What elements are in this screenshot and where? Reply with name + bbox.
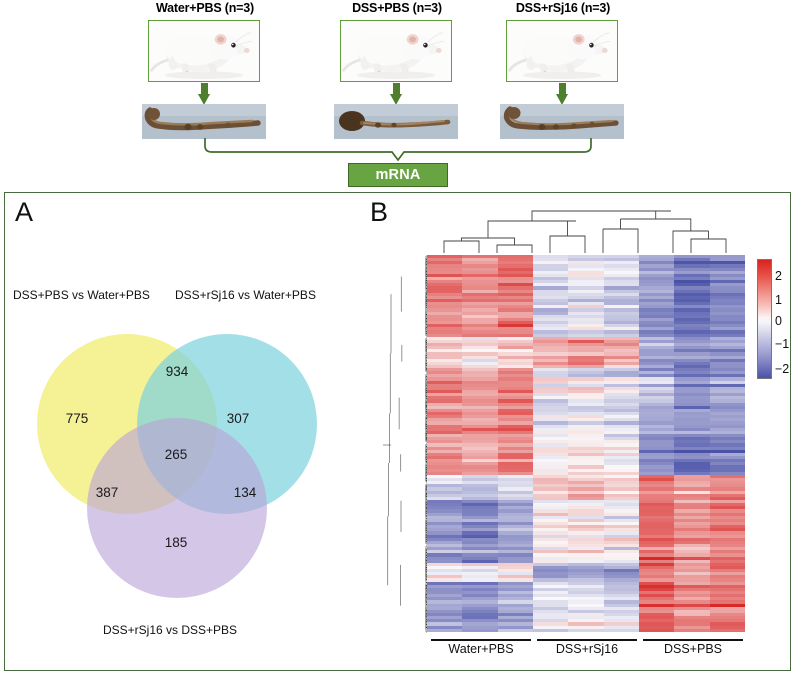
- heatmap-cell: [639, 629, 674, 632]
- venn-count-ac: 387: [84, 485, 130, 500]
- workflow-panel: Water+PBS (n=3): [0, 0, 795, 192]
- merge-bracket-icon: [0, 138, 795, 164]
- venn-circle-c: [87, 418, 267, 598]
- colon-illustration: [500, 104, 624, 139]
- group-title: DSS+PBS (n=3): [312, 0, 482, 16]
- heatmap-cell: [427, 629, 462, 632]
- rat-photo: [506, 20, 618, 82]
- heatmap-column: [427, 255, 462, 633]
- arrow-down-icon: [390, 83, 402, 105]
- venn-set-label-bottom: DSS+rSj16 vs DSS+PBS: [103, 623, 237, 637]
- rat-photo: [148, 20, 260, 82]
- colon-illustration: [334, 104, 458, 139]
- heatmap-column: [710, 255, 745, 633]
- venn-count-a-only: 775: [54, 411, 100, 426]
- heatmap-group-label-3: DSS+PBS: [643, 642, 743, 656]
- colorbar-tick-neg1: −1: [775, 337, 795, 351]
- colon-illustration: [142, 104, 266, 139]
- row-dendrogram: [383, 255, 427, 633]
- heatmap-cell: [710, 629, 745, 632]
- workflow-group-2: DSS+PBS (n=3): [312, 0, 482, 16]
- heatmap-colorbar: [757, 259, 772, 379]
- heatmap-column: [639, 255, 674, 633]
- workflow-group-3: DSS+rSj16 (n=3): [478, 0, 648, 16]
- heatmap-cell: [568, 629, 603, 632]
- workflow-group-1: Water+PBS (n=3): [120, 0, 290, 16]
- colorbar-tick-neg2: −2: [775, 362, 795, 376]
- arrow-down-icon: [556, 83, 568, 105]
- mrna-box: mRNA: [348, 163, 448, 187]
- venn-circles: [5, 302, 360, 622]
- group-title: DSS+rSj16 (n=3): [478, 0, 648, 16]
- venn-count-abc: 265: [153, 447, 199, 462]
- arrow-down-icon: [198, 83, 210, 105]
- colon-photo: [334, 104, 458, 139]
- heatmap-column: [533, 255, 568, 633]
- venn-diagram: DSS+PBS vs Water+PBS DSS+rSj16 vs Water+…: [5, 268, 360, 658]
- venn-set-label-left: DSS+PBS vs Water+PBS: [13, 288, 150, 302]
- heatmap-group-label-1: Water+PBS: [431, 642, 531, 656]
- colorbar-tick-2: 2: [775, 269, 795, 283]
- heatmap-group-label-2: DSS+rSj16: [537, 642, 637, 656]
- column-dendrogram: [426, 205, 746, 253]
- venn-count-c-only: 185: [153, 535, 199, 550]
- venn-count-bc: 134: [222, 485, 268, 500]
- heatmap-column: [498, 255, 533, 633]
- colon-photo: [500, 104, 624, 139]
- rat-illustration: [149, 21, 259, 81]
- heatmap-column: [568, 255, 603, 633]
- heatmap-column: [674, 255, 709, 633]
- colorbar-tick-1: 1: [775, 293, 795, 307]
- heatmap-cell: [604, 629, 639, 632]
- panel-a-letter: A: [15, 197, 33, 228]
- heatmap-chart: 2 1 0 −1 −2 Water+PBS DSS+rSj16 DSS+PBS: [383, 201, 783, 666]
- colorbar-tick-0: 0: [775, 314, 795, 328]
- heatmap-cell: [462, 629, 497, 632]
- venn-set-label-right: DSS+rSj16 vs Water+PBS: [175, 288, 316, 302]
- venn-count-ab: 934: [154, 364, 200, 379]
- heatmap-grid: [427, 255, 745, 633]
- heatmap-cell: [533, 629, 568, 632]
- figure-panel-border: A B DSS+PBS vs Water+PBS DSS+rSj16 vs Wa…: [4, 192, 791, 671]
- rat-illustration: [341, 21, 451, 81]
- group-title: Water+PBS (n=3): [120, 0, 290, 16]
- rat-illustration: [507, 21, 617, 81]
- heatmap-cell: [674, 629, 709, 632]
- colon-photo: [142, 104, 266, 139]
- heatmap-cell: [498, 629, 533, 632]
- venn-count-b-only: 307: [215, 411, 261, 426]
- rat-photo: [340, 20, 452, 82]
- heatmap-column: [462, 255, 497, 633]
- heatmap-column: [604, 255, 639, 633]
